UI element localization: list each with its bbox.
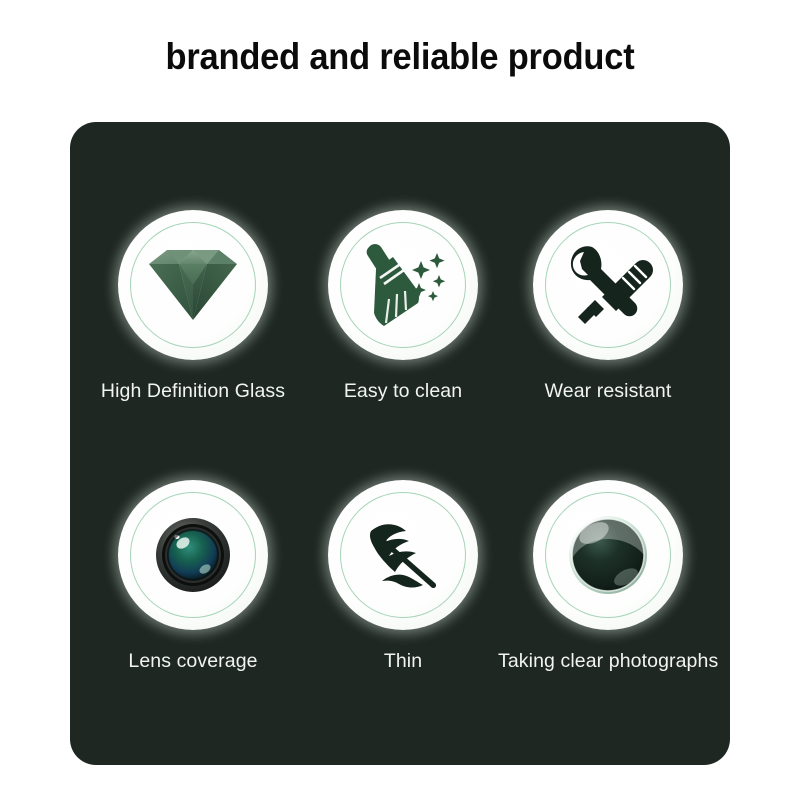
feature-icon-disc [118,210,268,360]
feature-lens-coverage: Lens coverage [83,480,303,673]
feature-high-definition-glass: High Definition Glass [83,210,303,403]
feature-label: Easy to clean [293,380,513,403]
feature-thin: Thin [293,480,513,673]
feature-label: Wear resistant [498,380,718,403]
glass-dome-icon [554,501,662,609]
feature-icon-disc [533,210,683,360]
features-panel: High Definition Glass [70,122,730,765]
page-title: branded and reliable product [28,36,772,78]
feature-wear-resistant: Wear resistant [498,210,718,403]
broom-sparkle-icon [349,231,457,339]
feature-taking-clear-photographs: Taking clear photographs [498,480,718,673]
feature-icon-disc [533,480,683,630]
feature-label: Lens coverage [83,650,303,673]
product-feature-infographic: branded and reliable product [0,0,800,800]
feature-icon-disc [328,210,478,360]
feature-icon-disc [118,480,268,630]
features-grid: High Definition Glass [70,122,730,765]
feature-label: Taking clear photographs [498,650,718,673]
camera-lens-icon [139,501,247,609]
feature-easy-to-clean: Easy to clean [293,210,513,403]
wrench-screwdriver-icon [554,231,662,339]
diamond-icon [139,231,247,339]
feature-label: Thin [293,650,513,673]
feature-label: High Definition Glass [83,380,303,403]
feature-icon-disc [328,480,478,630]
feather-icon [349,501,457,609]
